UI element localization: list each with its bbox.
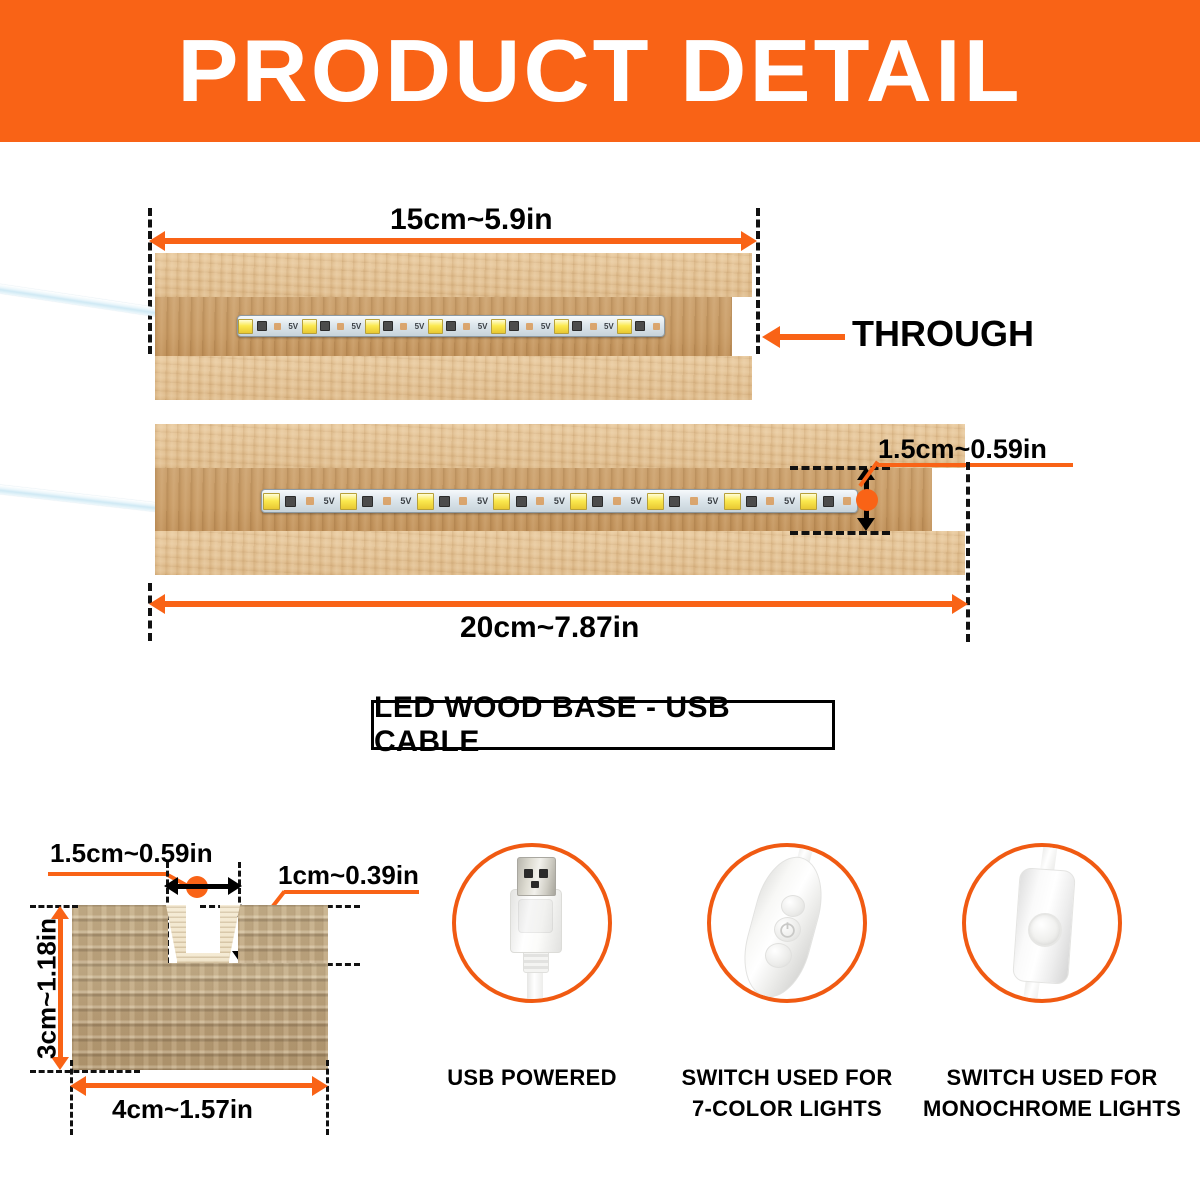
through-callout-label: THROUGH (852, 313, 1034, 355)
led-resistor (380, 316, 396, 336)
led-resistor-chip (635, 321, 645, 331)
led-resistor (506, 316, 522, 336)
seven-color-caption-line1: SWITCH USED FOR (677, 1062, 897, 1093)
led-resistor (317, 316, 333, 336)
led-voltage-label: 5V (400, 496, 411, 506)
monochrome-caption-line2: MONOCHROME LIGHTS (922, 1093, 1182, 1124)
led-diode (339, 490, 358, 512)
led-solder-pad (377, 490, 396, 512)
led-solder-pad-shape (306, 497, 314, 505)
through-callout-arrow (779, 334, 845, 340)
seven-color-switch-circle (707, 843, 867, 1003)
led-diode-chip (365, 319, 380, 334)
led-resistor (254, 316, 270, 336)
upper-base-width-arrow (164, 238, 742, 244)
led-solder-pad-shape (526, 323, 533, 330)
led-voltage-label: 5V (477, 496, 488, 506)
xsec-groove-depth-label: 1cm~0.39in (278, 860, 419, 891)
led-solder-pad (838, 490, 857, 512)
led-resistor-chip (823, 496, 834, 507)
led-solder-pad (270, 316, 286, 336)
seven-color-button-power (774, 917, 801, 942)
xsec-width-left-extension-line (70, 1060, 73, 1135)
led-resistor (443, 316, 459, 336)
led-solder-pad (522, 316, 538, 336)
led-solder-pad-shape (843, 497, 851, 505)
led-diode (491, 316, 507, 336)
led-resistor-chip (572, 321, 582, 331)
led-voltage-marking: 5V (550, 490, 569, 512)
led-solder-pad-shape (459, 497, 467, 505)
usb-contact-hole-right (539, 869, 548, 878)
led-voltage-label: 5V (604, 322, 614, 331)
usb-metal-shell-icon (517, 857, 556, 896)
groove-callout-dot (856, 489, 878, 511)
monochrome-caption-line1: SWITCH USED FOR (922, 1062, 1182, 1093)
led-solder-pad (459, 316, 475, 336)
upper-base-width-label: 15cm~5.9in (390, 203, 553, 237)
section-title-label: LED WOOD BASE - USB CABLE (374, 691, 832, 759)
led-diode (646, 490, 665, 512)
led-solder-pad-shape (400, 323, 407, 330)
led-solder-pad-shape (383, 497, 391, 505)
led-voltage-label: 5V (351, 322, 361, 331)
led-resistor-chip (516, 496, 527, 507)
led-diode-chip (302, 319, 317, 334)
led-diode (492, 490, 511, 512)
xsec-width-right-extension-line (326, 1060, 329, 1135)
led-resistor (633, 316, 649, 336)
led-voltage-label: 5V (554, 496, 565, 506)
led-diode (301, 316, 317, 336)
led-voltage-marking: 5V (538, 316, 554, 336)
xsec-groove-floor (177, 953, 229, 963)
led-solder-pad (531, 490, 550, 512)
lower-base-width-arrow (164, 601, 953, 607)
usb-contact-hole-left (524, 869, 533, 878)
led-solder-pad-shape (613, 497, 621, 505)
led-voltage-marking: 5V (285, 316, 301, 336)
led-solder-pad-shape (536, 497, 544, 505)
led-voltage-label: 5V (415, 322, 425, 331)
led-solder-pad (761, 490, 780, 512)
led-solder-pad-shape (766, 497, 774, 505)
led-resistor (569, 316, 585, 336)
led-solder-pad-shape (690, 497, 698, 505)
led-solder-pad-shape (337, 323, 344, 330)
led-diode-chip (491, 319, 506, 334)
lower-base-led-strip: 5V5V5V5V5V5V5V (261, 489, 858, 513)
led-diode-chip (340, 493, 357, 510)
led-resistor-chip (320, 321, 330, 331)
led-resistor (281, 490, 300, 512)
led-resistor-chip (362, 496, 373, 507)
lower-base-right-extension-line (966, 462, 970, 642)
led-voltage-marking: 5V (601, 316, 617, 336)
led-solder-pad (607, 490, 626, 512)
led-diode (617, 316, 633, 336)
xsec-wood-block-base (72, 963, 328, 1070)
led-diode (723, 490, 742, 512)
led-resistor (665, 490, 684, 512)
led-resistor-chip (257, 321, 267, 331)
xsec-groove-width-arrow (177, 884, 229, 889)
led-diode-chip (238, 319, 253, 334)
led-resistor (742, 490, 761, 512)
lower-base-bottom-rail (155, 531, 965, 575)
upper-base-left-extension-line (148, 208, 152, 354)
led-diode-chip (570, 493, 587, 510)
led-diode-chip (554, 319, 569, 334)
led-voltage-marking: 5V (396, 490, 415, 512)
monochrome-switch-caption: SWITCH USED FOR MONOCHROME LIGHTS (922, 1062, 1182, 1124)
upper-base-led-strip: 5V5V5V5V5V5V (237, 315, 665, 337)
seven-color-switch-caption: SWITCH USED FOR 7-COLOR LIGHTS (677, 1062, 897, 1124)
led-voltage-label: 5V (784, 496, 795, 506)
xsec-width-arrow (85, 1083, 313, 1088)
led-diode-chip (724, 493, 741, 510)
led-diode-chip (647, 493, 664, 510)
led-voltage-marking: 5V (780, 490, 799, 512)
led-diode (416, 490, 435, 512)
led-resistor (511, 490, 530, 512)
led-diode-chip (493, 493, 510, 510)
led-diode-chip (800, 493, 817, 510)
led-diode (262, 490, 281, 512)
page-title: PRODUCT DETAIL (0, 16, 1200, 126)
xsec-height-label: 3cm~1.18in (32, 899, 63, 1079)
upper-base-power-cable (0, 283, 166, 318)
lower-base-power-cable (0, 484, 171, 513)
upper-base-right-extension-line (756, 208, 760, 354)
led-resistor (358, 490, 377, 512)
usb-plug-body-inset (518, 899, 553, 933)
led-resistor-chip (446, 321, 456, 331)
led-solder-pad-shape (590, 323, 597, 330)
lower-base-top-rail (155, 424, 965, 468)
led-solder-pad (300, 490, 319, 512)
led-diode (427, 316, 443, 336)
led-diode-chip (428, 319, 443, 334)
led-resistor-chip (746, 496, 757, 507)
led-resistor-chip (509, 321, 519, 331)
led-resistor-chip (383, 321, 393, 331)
led-diode-chip (263, 493, 280, 510)
xsec-groove-width-label: 1.5cm~0.59in (50, 838, 213, 869)
led-diode (799, 490, 818, 512)
led-voltage-marking: 5V (473, 490, 492, 512)
upper-base-top-rail (155, 253, 752, 297)
led-diode-chip (417, 493, 434, 510)
led-voltage-label: 5V (631, 496, 642, 506)
led-voltage-marking: 5V (475, 316, 491, 336)
seven-color-button-bottom (765, 943, 792, 968)
led-voltage-label: 5V (478, 322, 488, 331)
section-title-box: LED WOOD BASE - USB CABLE (371, 700, 835, 750)
led-diode (238, 316, 254, 336)
led-resistor (588, 490, 607, 512)
led-resistor-chip (592, 496, 603, 507)
led-solder-pad (585, 316, 601, 336)
led-resistor-chip (669, 496, 680, 507)
led-diode-chip (617, 319, 632, 334)
led-solder-pad-shape (274, 323, 281, 330)
led-voltage-label: 5V (288, 322, 298, 331)
lower-base-groove-width-label: 1.5cm~0.59in (878, 434, 1047, 465)
led-voltage-marking: 5V (412, 316, 428, 336)
led-resistor (818, 490, 837, 512)
power-icon (775, 918, 800, 941)
led-solder-pad (648, 316, 664, 336)
led-voltage-label: 5V (541, 322, 551, 331)
led-solder-pad-shape (463, 323, 470, 330)
upper-base-bottom-rail (155, 356, 752, 400)
monochrome-power-button (1028, 913, 1062, 947)
seven-color-button-top (781, 895, 805, 917)
usb-powered-caption: USB POWERED (422, 1062, 642, 1093)
page-header-banner: PRODUCT DETAIL (0, 0, 1200, 142)
led-voltage-marking: 5V (348, 316, 364, 336)
groove-lower-reference-line (790, 531, 890, 535)
monochrome-switch-circle (962, 843, 1122, 1003)
led-diode (554, 316, 570, 336)
led-solder-pad (396, 316, 412, 336)
led-resistor (435, 490, 454, 512)
usb-powered-caption-line1: USB POWERED (422, 1062, 642, 1093)
led-voltage-marking: 5V (627, 490, 646, 512)
led-solder-pad (684, 490, 703, 512)
led-resistor-chip (439, 496, 450, 507)
usb-powered-circle (452, 843, 612, 1003)
usb-contact-hole-center (531, 881, 539, 888)
led-solder-pad (333, 316, 349, 336)
seven-color-caption-line2: 7-COLOR LIGHTS (677, 1093, 897, 1124)
led-voltage-label: 5V (707, 496, 718, 506)
led-voltage-label: 5V (324, 496, 335, 506)
led-solder-pad (454, 490, 473, 512)
led-voltage-marking: 5V (703, 490, 722, 512)
led-diode (569, 490, 588, 512)
led-voltage-marking: 5V (320, 490, 339, 512)
xsec-width-label: 4cm~1.57in (112, 1094, 253, 1125)
xsec-groove-width-leader-horizontal (48, 872, 168, 876)
led-resistor-chip (285, 496, 296, 507)
lower-base-width-label: 20cm~7.87in (460, 611, 639, 645)
led-solder-pad-shape (653, 323, 660, 330)
led-diode (364, 316, 380, 336)
